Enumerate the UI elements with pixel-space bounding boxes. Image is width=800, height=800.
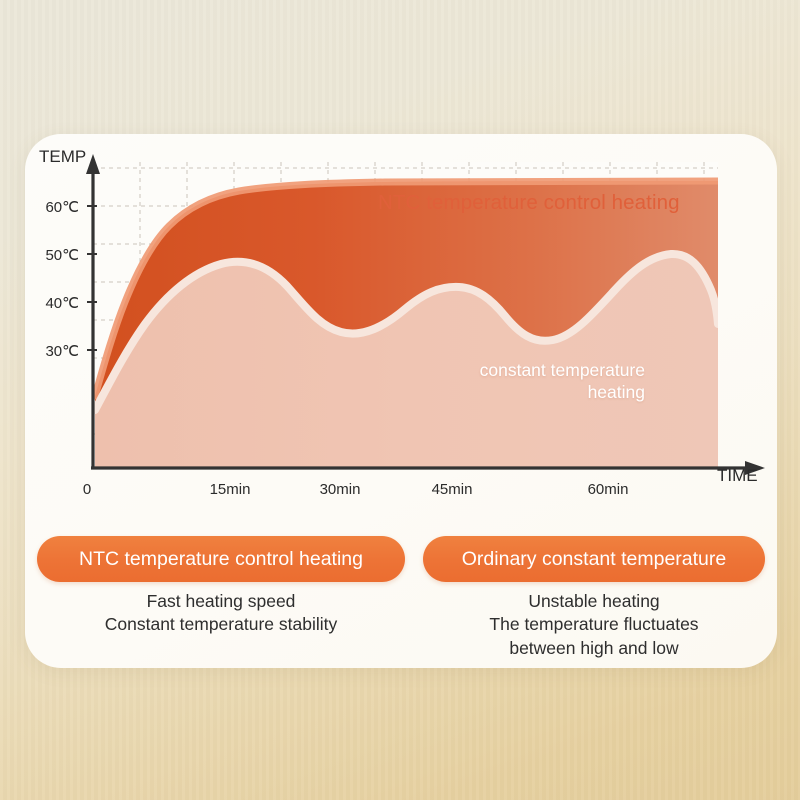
x-tick-60min: 60min [588,481,629,498]
legend-pill-ntc[interactable]: NTC temperature control heating [37,536,405,582]
chart-card: TEMP TIME 0 60℃ 50℃ 40℃ 30℃ 15min 30min … [25,134,777,668]
x-tick-30min: 30min [320,481,361,498]
origin-label: 0 [83,481,91,498]
x-axis-title: TIME [717,466,758,485]
legend-pill-row: NTC temperature control heating Ordinary… [25,536,777,582]
x-tick-15min: 15min [210,481,251,498]
y-tick-60: 60℃ [45,199,79,216]
legend-pill-ordinary[interactable]: Ordinary constant temperature [423,536,765,582]
y-tick-40: 40℃ [45,295,79,312]
caption-ntc: Fast heating speed Constant temperature … [37,590,405,637]
y-tick-50: 50℃ [45,247,79,264]
chart-title: NTC temperature control heating [378,191,680,215]
y-axis-title: TEMP [39,147,86,166]
constant-temperature-annotation: constant temperature heating [385,359,645,404]
temperature-chart: TEMP TIME 0 60℃ 50℃ 40℃ 30℃ 15min 30min … [25,134,777,504]
caption-ordinary: Unstable heating The temperature fluctua… [423,590,765,660]
chart-area: TEMP TIME 0 60℃ 50℃ 40℃ 30℃ 15min 30min … [25,134,777,504]
x-tick-45min: 45min [432,481,473,498]
y-tick-30: 30℃ [45,343,79,360]
